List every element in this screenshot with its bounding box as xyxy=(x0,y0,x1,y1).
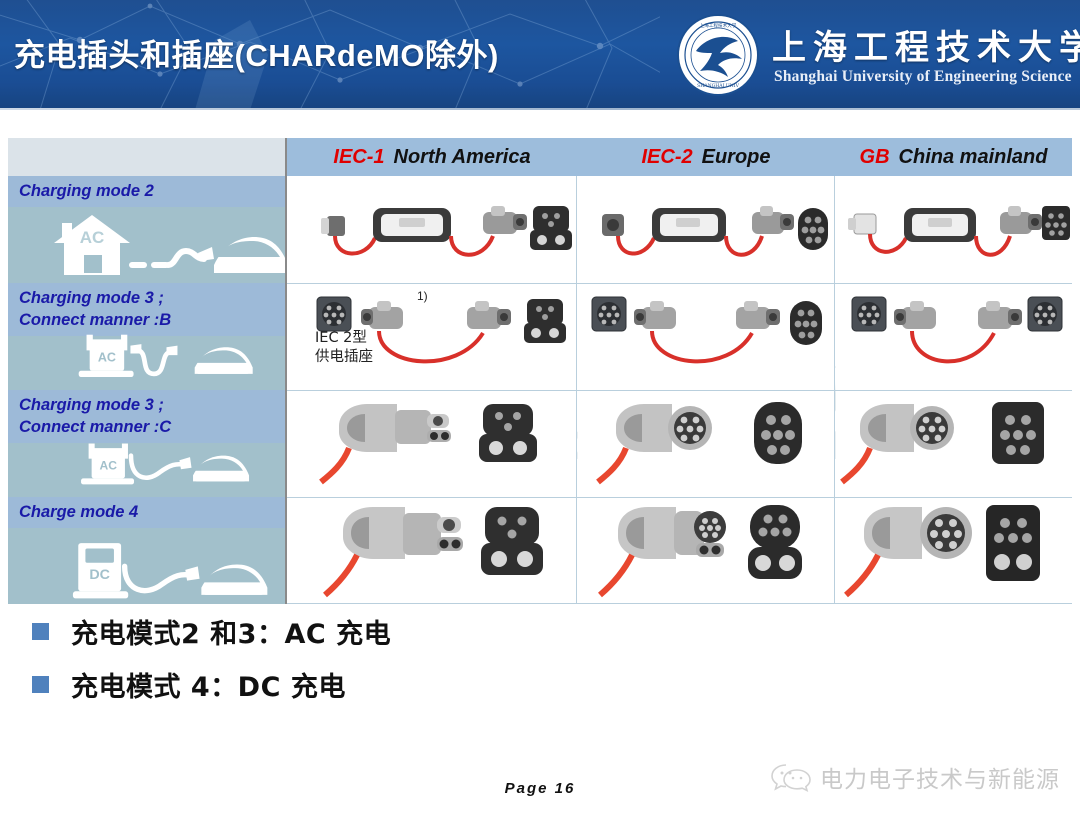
wechat-account: 电力电子技术与新能源 xyxy=(771,760,1060,794)
table-row: Charging mode 3 ; Connect manner :B AC xyxy=(8,283,1072,390)
annotation-line1: IEC 2型 xyxy=(315,329,373,348)
connector-diagram-mode2-iec1 xyxy=(287,176,576,283)
svg-text:AC: AC xyxy=(100,458,118,472)
connector-diagram-mode3c-gb xyxy=(836,390,1072,497)
connector-diagram-mode4-gb xyxy=(836,497,1072,604)
university-name-en: Shanghai University of Engineering Scien… xyxy=(774,68,1072,86)
row-label-cell-mode2: Charging mode 2 AC xyxy=(8,176,285,283)
column-code-iec2: IEC-2 xyxy=(641,146,692,169)
table-row: Charge mode 4 DC xyxy=(8,497,1072,604)
cell-mode3c-gb xyxy=(836,390,1072,497)
connector-diagram-mode4-iec2 xyxy=(578,497,834,604)
cell-mode4-gb xyxy=(836,497,1072,604)
cell-mode4-iec2 xyxy=(578,497,834,604)
row-label-line1: Charging mode 3 ; xyxy=(19,394,281,416)
connector-diagram-mode3c-iec1 xyxy=(287,390,576,497)
svg-text:AC: AC xyxy=(80,228,105,247)
university-name-cn: 上海工程技术大学 xyxy=(772,20,1080,69)
university-logo: 上海工程技术大学 SHANGHAI UNIV 上海工程技术大学 Shanghai… xyxy=(660,6,1080,104)
cell-mode3b-gb xyxy=(836,283,1072,390)
slide-header: 充电插头和插座(CHARdeMO除外) 上海工程技术大学 SHANGHAI UN… xyxy=(0,0,1080,110)
svg-text:AC: AC xyxy=(98,350,116,364)
connector-diagram-mode4-iec1 xyxy=(287,497,576,604)
row-label-line1: Charging mode 3 ; xyxy=(19,287,281,309)
row-label-cell-mode3b: Charging mode 3 ; Connect manner :B AC xyxy=(8,283,285,390)
row-label-line2: Connect manner :C xyxy=(19,416,281,438)
dc-charging-post-attached-cable-car-icon: DC xyxy=(8,536,285,602)
table-vertical-divider xyxy=(285,138,287,604)
cell-annotation-iec2-socket: IEC 2型 供电插座 xyxy=(315,329,373,367)
cell-mode3c-iec1 xyxy=(287,390,576,497)
row-label-mode4: Charge mode 4 xyxy=(19,501,281,523)
cell-mode3b-iec1: 1) IEC 2型 供电插座 xyxy=(287,283,576,390)
connector-diagram-mode3b-gb xyxy=(836,283,1072,390)
cell-mode2-iec2 xyxy=(578,176,834,283)
ac-charging-post-cable-car-icon: AC xyxy=(8,330,285,388)
row-label-mode2: Charging mode 2 xyxy=(19,180,281,202)
column-header-iec1: IEC-1 North America xyxy=(287,138,577,176)
bullet-square-icon xyxy=(32,623,49,640)
column-header-iec2: IEC-2 Europe xyxy=(577,138,835,176)
header-underline xyxy=(0,108,1080,110)
column-name-iec1: North America xyxy=(394,146,531,169)
list-item: 充电模式 4：DC 充电 xyxy=(0,665,1080,704)
column-name-gb: China mainland xyxy=(899,146,1048,169)
bullet-text-1: 充电模式2 和3：AC 充电 xyxy=(71,612,391,651)
connector-diagram-mode2-gb xyxy=(836,176,1072,283)
row-rule-2 xyxy=(287,390,1072,391)
svg-text:SHANGHAI UNIV: SHANGHAI UNIV xyxy=(697,83,739,89)
row-label-mode3b: Charging mode 3 ; Connect manner :B xyxy=(19,287,281,331)
connector-diagram-mode3b-iec2 xyxy=(578,283,834,390)
house-ac-cable-car-icon: AC xyxy=(8,207,285,281)
university-bird-emblem-icon: 上海工程技术大学 SHANGHAI UNIV xyxy=(676,13,760,97)
cell-mode3b-iec2 xyxy=(578,283,834,390)
row-label-line2: Connect manner :B xyxy=(19,309,281,331)
column-name-iec2: Europe xyxy=(702,146,771,169)
row-label-cell-mode3c: Charging mode 3 ; Connect manner :C AC xyxy=(8,390,285,497)
table-header-row: IEC-1 North America IEC-2 Europe GB Chin… xyxy=(287,138,1072,176)
table-row: Charging mode 3 ; Connect manner :C AC xyxy=(8,390,1072,497)
cell-mode4-iec1 xyxy=(287,497,576,604)
table-row: Charging mode 2 AC xyxy=(8,176,1072,283)
cell-mode3c-iec2 xyxy=(578,390,834,497)
row-label-cell-mode4: Charge mode 4 DC xyxy=(8,497,285,604)
bullet-list: 充电模式2 和3：AC 充电 充电模式 4：DC 充电 xyxy=(0,612,1080,718)
page-title: 充电插头和插座(CHARdeMO除外) xyxy=(14,30,499,75)
charging-plug-socket-table: IEC-1 North America IEC-2 Europe GB Chin… xyxy=(8,138,1072,604)
row-rule-1 xyxy=(287,283,1072,284)
cell-mode2-iec1 xyxy=(287,176,576,283)
row-rule-3 xyxy=(287,497,1072,498)
column-header-gb: GB China mainland xyxy=(835,138,1072,176)
cell-mode2-gb xyxy=(836,176,1072,283)
wechat-account-label: 电力电子技术与新能源 xyxy=(820,760,1060,794)
svg-text:上海工程技术大学: 上海工程技术大学 xyxy=(700,22,737,29)
column-code-gb: GB xyxy=(860,146,890,169)
row-label-mode3c: Charging mode 3 ; Connect manner :C xyxy=(19,394,281,438)
list-item: 充电模式2 和3：AC 充电 xyxy=(0,612,1080,651)
footnote-marker: 1) xyxy=(417,289,428,303)
column-code-iec1: IEC-1 xyxy=(333,146,384,169)
connector-diagram-mode2-iec2 xyxy=(578,176,834,283)
bullet-square-icon xyxy=(32,676,49,693)
svg-text:DC: DC xyxy=(89,567,110,583)
wechat-icon xyxy=(771,762,811,792)
ac-charging-post-attached-cable-car-icon: AC xyxy=(8,439,285,495)
bullet-text-2: 充电模式 4：DC 充电 xyxy=(71,665,346,704)
connector-diagram-mode3c-iec2 xyxy=(578,390,834,497)
annotation-line2: 供电插座 xyxy=(315,348,373,367)
table-bottom-border xyxy=(287,603,1072,604)
table-corner-cell xyxy=(8,138,285,176)
